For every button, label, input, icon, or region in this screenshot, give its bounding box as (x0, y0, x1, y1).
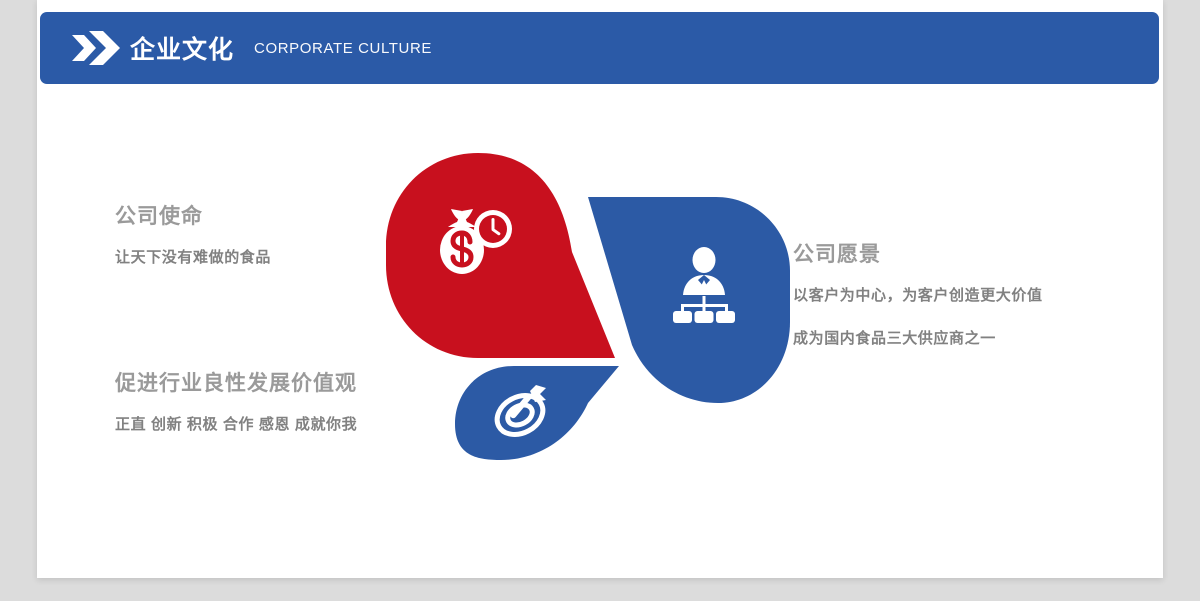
vision-title: 公司愿景 (793, 238, 1043, 268)
slide-card: 企业文化 CORPORATE CULTURE (37, 0, 1163, 578)
values-text-block: 促进行业良性发展价值观 正直 创新 积极 合作 感恩 成就你我 (115, 367, 357, 434)
header-band: 企业文化 CORPORATE CULTURE (40, 12, 1159, 84)
petal-diagram (370, 145, 790, 465)
vision-petal[interactable] (588, 197, 790, 403)
values-petal[interactable] (455, 366, 619, 460)
values-title: 促进行业良性发展价值观 (115, 367, 357, 397)
vision-line-2: 成为国内食品三大供应商之一 (793, 327, 1043, 348)
values-line-1: 正直 创新 积极 合作 感恩 成就你我 (115, 413, 357, 434)
vision-text-block: 公司愿景 以客户为中心，为客户创造更大价值 成为国内食品三大供应商之一 (793, 238, 1043, 348)
double-chevron-icon (72, 31, 120, 65)
mission-petal[interactable] (386, 153, 615, 358)
mission-text-block: 公司使命 让天下没有难做的食品 (115, 200, 271, 267)
header-title-en: CORPORATE CULTURE (254, 40, 432, 57)
mission-line-1: 让天下没有难做的食品 (115, 246, 271, 267)
header-title-cn: 企业文化 (130, 30, 234, 66)
mission-title: 公司使命 (115, 200, 271, 230)
vision-line-1: 以客户为中心，为客户创造更大价值 (793, 284, 1043, 305)
